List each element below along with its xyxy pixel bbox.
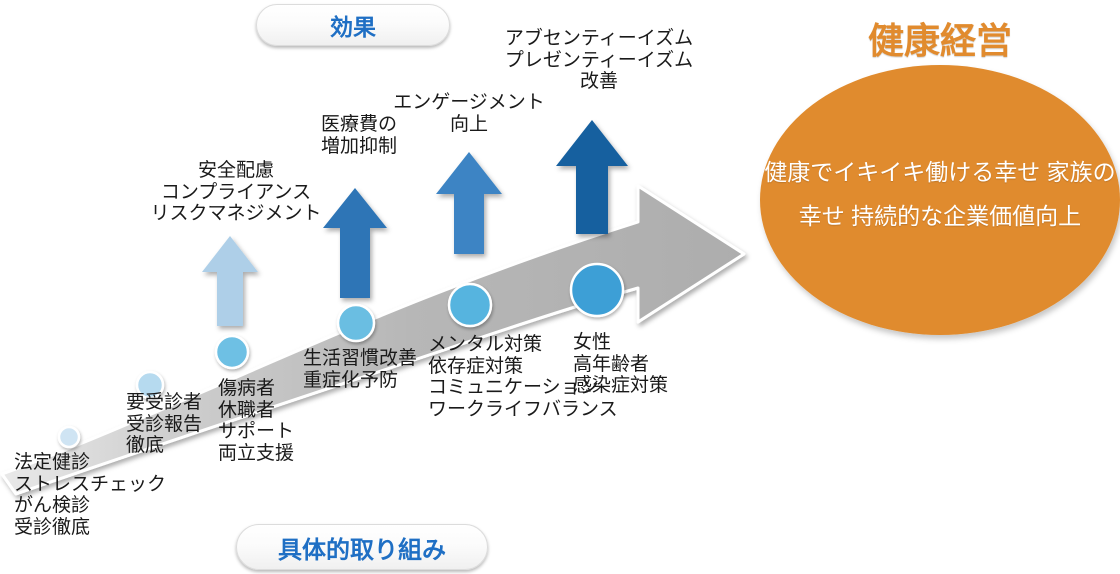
step-label-2: 要受診者 受診報告 徹底 — [126, 392, 202, 457]
effect-label-4: アブセンティーイズム プレゼンティーイズム 改善 — [494, 28, 704, 93]
effect-arrow-1 — [202, 236, 258, 326]
step-label-6: 女性 高年齢者 感染症対策 — [573, 332, 668, 397]
effect-arrow-2 — [323, 188, 387, 298]
banner-effect[interactable]: 効果 — [256, 4, 450, 46]
banner-effect-label: 効果 — [330, 8, 376, 42]
step-label-4: 生活習慣改善 重症化予防 — [303, 348, 417, 391]
goal-title: 健康経営 — [790, 12, 1090, 64]
step-label-3: 傷病者 休職者 サポート 両立支援 — [218, 378, 294, 465]
step-dot-3 — [216, 336, 248, 368]
effect-label-1: 安全配慮 コンプライアンス リスクマネジメント — [150, 160, 322, 225]
step-dot-1 — [59, 427, 79, 447]
step-dot-4 — [338, 305, 374, 341]
effect-arrow-3 — [436, 152, 502, 254]
banner-actions[interactable]: 具体的取り組み — [236, 524, 488, 570]
step-dot-5 — [449, 284, 491, 326]
banner-actions-label: 具体的取り組み — [278, 530, 446, 565]
goal-body-text: 健康でイキイキ働ける幸せ 家族の幸せ 持続的な企業価値向上 — [760, 150, 1120, 238]
diagram-canvas: 効果 具体的取り組み 健康経営 健康でイキイキ働ける幸せ 家族の幸せ 持続的な企… — [0, 0, 1120, 574]
effect-label-3: エンゲージメント 向上 — [392, 92, 546, 135]
step-label-1: 法定健診 ストレスチェック がん検診 受診徹底 — [14, 452, 166, 539]
step-dot-6 — [571, 264, 623, 316]
effect-arrow-4 — [556, 120, 628, 234]
